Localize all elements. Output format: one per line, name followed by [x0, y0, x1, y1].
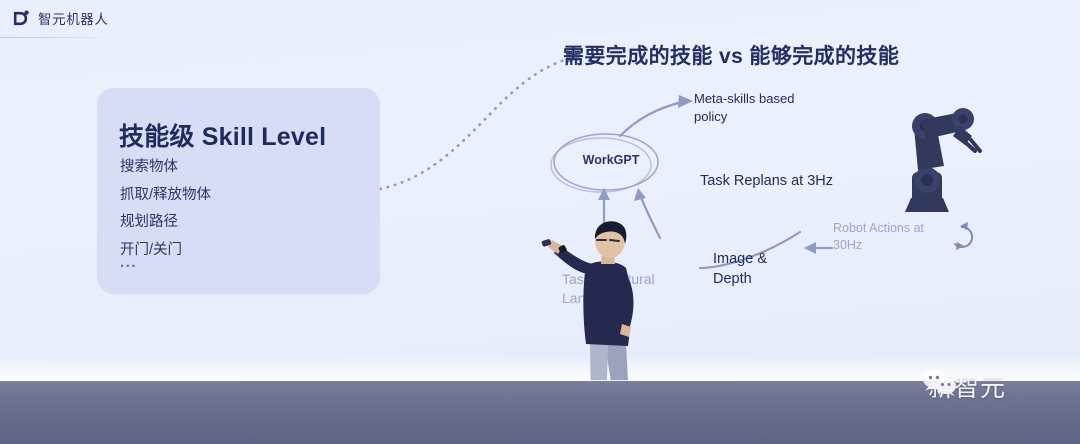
watermark-text: 新智元 — [928, 368, 1006, 404]
presentation-photo: 智元机器人 技能级 Skill Level 搜索物体 抓取/释放物体 规划路径 … — [0, 0, 1080, 444]
brand-name: 智元机器人 — [38, 8, 109, 28]
task-language-label: Task in Natural Language — [562, 270, 692, 308]
list-item: 抓取/释放物体 — [120, 186, 211, 206]
stage-floor — [0, 381, 1080, 444]
brand-header: 智元机器人 — [12, 8, 109, 28]
header-divider — [0, 37, 118, 38]
card-title: 技能级 Skill Level — [119, 117, 326, 153]
skill-level-card: 技能级 Skill Level 搜索物体 抓取/释放物体 规划路径 开门/关门 … — [97, 88, 380, 294]
meta-skills-label: Meta-skills based policy — [694, 90, 824, 125]
robot-actions-label: Robot Actions at 30Hz — [833, 220, 948, 254]
list-ellipsis: ... — [120, 254, 137, 271]
image-depth-label: Image & Depth — [713, 250, 803, 289]
workgpt-node-label: WorkGPT — [575, 153, 647, 167]
page-title: 需要完成的技能 vs 能够完成的技能 — [563, 40, 899, 70]
agibot-d-logo-icon — [12, 9, 31, 28]
list-item: 搜索物体 — [120, 158, 211, 178]
watermark: 新智元 — [921, 368, 1006, 404]
skill-list: 搜索物体 抓取/释放物体 规划路径 开门/关门 — [120, 158, 211, 260]
task-replans-label: Task Replans at 3Hz — [700, 172, 833, 192]
list-item: 规划路径 — [120, 213, 211, 233]
